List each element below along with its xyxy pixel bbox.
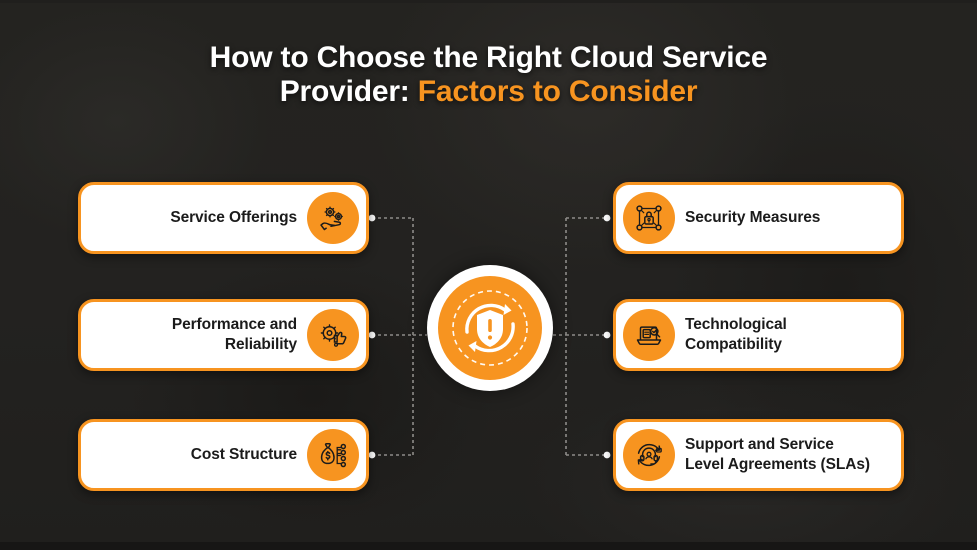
shield-alert-cycle-icon: [447, 285, 533, 371]
card-label: Cost Structure: [191, 445, 297, 465]
card-performance-reliability[interactable]: Performance and Reliability: [78, 299, 369, 371]
bottom-edge-band: [0, 542, 977, 550]
lock-network-icon: [623, 192, 675, 244]
title-line-2: Provider: Factors to Consider: [0, 75, 977, 109]
card-label: Support and Service Level Agreements (SL…: [685, 435, 870, 474]
card-technological-compatibility[interactable]: Technological Compatibility: [613, 299, 904, 371]
hub-inner-circle: [438, 276, 542, 380]
gear-thumbsup-icon: [307, 309, 359, 361]
card-label: Security Measures: [685, 208, 820, 228]
page-title: How to Choose the Right Cloud Service Pr…: [0, 41, 977, 109]
card-security-measures[interactable]: Security Measures: [613, 182, 904, 254]
hand-gears-icon: [307, 192, 359, 244]
card-cost-structure[interactable]: Cost Structure: [78, 419, 369, 491]
card-label: Technological Compatibility: [685, 315, 787, 354]
central-hub: [427, 265, 553, 391]
top-edge-band: [0, 0, 977, 3]
title-line-2-prefix: Provider:: [280, 75, 418, 108]
card-label: Performance and Reliability: [172, 315, 297, 354]
card-service-offerings[interactable]: Service Offerings: [78, 182, 369, 254]
money-bag-structure-icon: [307, 429, 359, 481]
card-support-sla[interactable]: Support and Service Level Agreements (SL…: [613, 419, 904, 491]
card-label: Service Offerings: [170, 208, 297, 228]
title-line-2-accent: Factors to Consider: [418, 75, 698, 108]
headset-support-icon: [623, 429, 675, 481]
title-line-1: How to Choose the Right Cloud Service: [0, 41, 977, 75]
laptop-check-icon: [623, 309, 675, 361]
